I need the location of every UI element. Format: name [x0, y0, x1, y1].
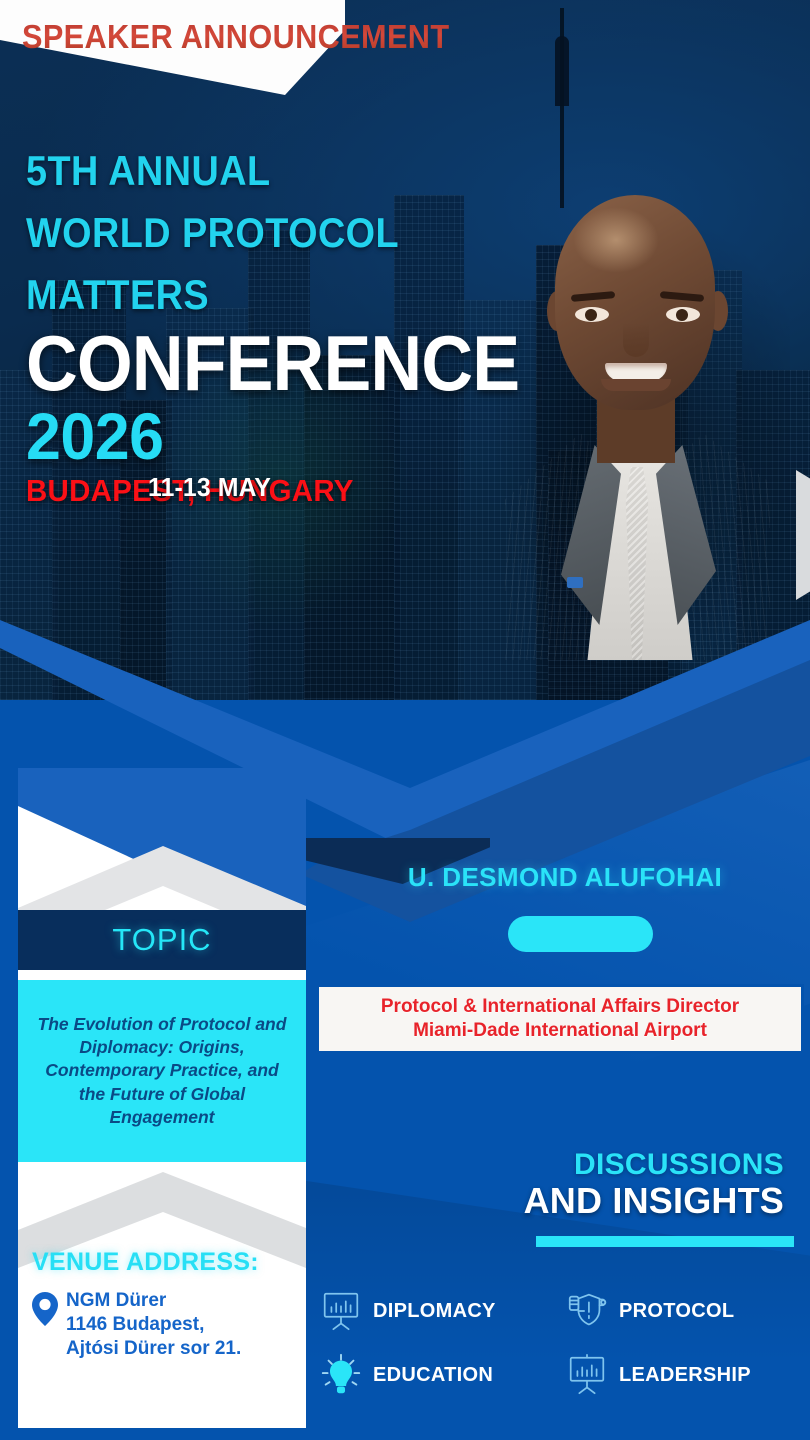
topic-item-education: EDUCATION — [318, 1352, 558, 1398]
presentation-chart-icon — [318, 1288, 364, 1334]
conference-word: CONFERENCE — [26, 326, 519, 401]
discussions-line-2: AND INSIGHTS — [330, 1182, 784, 1220]
speaker-announcement-label: SPEAKER ANNOUNCEMENT — [22, 18, 449, 56]
conference-dates: 11-13 MAY — [148, 472, 271, 503]
panel-gray-side-accent — [796, 470, 810, 600]
topic-label: PROTOCOL — [619, 1300, 734, 1323]
presentation-chart-icon — [564, 1352, 610, 1398]
venue-block: VENUE ADDRESS: NGM Dürer 1146 Budapest, … — [18, 1248, 306, 1361]
discussions-underline — [536, 1236, 794, 1247]
speaker-role-card: Protocol & International Affairs Directo… — [316, 984, 804, 1054]
venue-address: NGM Dürer 1146 Budapest, Ajtósi Dürer so… — [66, 1289, 241, 1361]
shield-alert-icon — [564, 1288, 610, 1334]
speaker-role-line-2: Miami-Dade International Airport — [413, 1020, 707, 1041]
topic-body: The Evolution of Protocol and Diplomacy:… — [18, 980, 306, 1162]
conference-city: BUDAPEST, HUNGARY — [26, 473, 535, 509]
discussions-heading-block: DISCUSSIONS AND INSIGHTS — [330, 1148, 800, 1220]
speaker-role-line-1: Protocol & International Affairs Directo… — [381, 996, 739, 1017]
title-line-2: WORLD PROTOCOL — [26, 212, 508, 254]
topic-label: EDUCATION — [373, 1364, 493, 1387]
topic-text: The Evolution of Protocol and Diplomacy:… — [32, 1013, 292, 1128]
speaker-name: U. DESMOND ALUFOHAI — [330, 862, 800, 893]
topic-label: DIPLOMACY — [373, 1300, 496, 1323]
map-pin-icon — [32, 1292, 58, 1361]
discussion-topics-list: DIPLOMACY PROTOCOL — [318, 1288, 804, 1398]
title-line-1: 5TH ANNUAL — [26, 150, 508, 192]
topic-header: TOPIC — [18, 910, 306, 970]
lightbulb-icon — [318, 1352, 364, 1398]
topic-label: LEADERSHIP — [619, 1364, 751, 1387]
topic-item-leadership: LEADERSHIP — [564, 1352, 804, 1398]
title-line-3: MATTERS — [26, 274, 508, 316]
topic-item-protocol: PROTOCOL — [564, 1288, 804, 1334]
conference-year: 2026 — [26, 403, 535, 469]
speaker-announcement-poster: SPEAKER ANNOUNCEMENT 5TH ANNUAL WORLD PR… — [0, 0, 810, 1440]
topic-heading-label: TOPIC — [112, 922, 211, 958]
venue-heading: VENUE ADDRESS: — [32, 1248, 306, 1277]
discussions-line-1: DISCUSSIONS — [330, 1148, 784, 1182]
conference-title-block: 5TH ANNUAL WORLD PROTOCOL MATTERS CONFER… — [26, 150, 562, 515]
speaker-name-pill — [508, 916, 653, 952]
topic-item-diplomacy: DIPLOMACY — [318, 1288, 558, 1334]
